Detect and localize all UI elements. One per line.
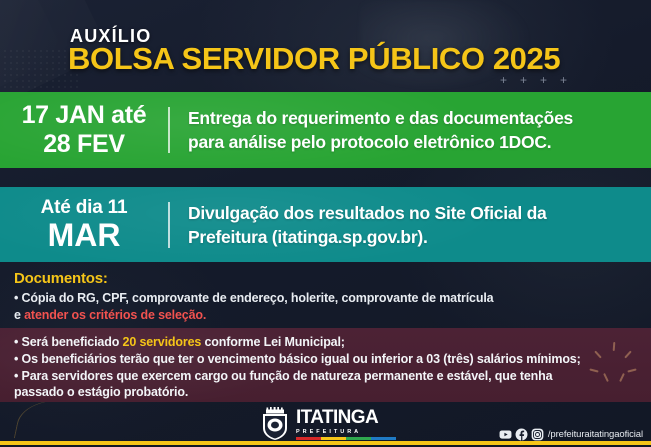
condition-bullet-3-continued: passado o estágio probatório. — [14, 384, 637, 401]
poster-header: AUXÍLIO BOLSA SERVIDOR PÚBLICO 2025 + + … — [0, 0, 651, 92]
condition-bullet-3: • Para servidores que exercem cargo ou f… — [14, 368, 637, 385]
poster-root: AUXÍLIO BOLSA SERVIDOR PÚBLICO 2025 + + … — [0, 0, 651, 447]
plus-marks-decoration: + + + + — [500, 74, 567, 86]
band-divulgacao-date-line1: Até dia 11 — [0, 197, 168, 219]
logo-subtitle: PREFEITURA — [296, 428, 396, 436]
band-entrega: 17 JAN até 28 FEV Entrega do requeriment… — [0, 92, 651, 168]
spark-decoration — [593, 342, 637, 384]
band-divulgacao: Até dia 11 MAR Divulgação dos resultados… — [0, 187, 651, 262]
band-divulgacao-date: Até dia 11 MAR — [0, 197, 168, 252]
youtube-icon[interactable] — [499, 428, 512, 441]
documents-title: Documentos: — [14, 270, 634, 287]
band-entrega-date: 17 JAN até 28 FEV — [0, 101, 168, 159]
logo-bar-yellow — [321, 437, 346, 440]
band-entrega-text-line1: Entrega do requerimento e das documentaç… — [188, 106, 573, 130]
band-entrega-text: Entrega do requerimento e das documentaç… — [170, 106, 573, 154]
documents-line-2-prefix: e — [14, 308, 24, 322]
logo-bar-blue — [371, 437, 396, 440]
social-links[interactable]: /prefeituraitatingaoficial — [499, 428, 643, 441]
condition-bullet-1: • Será beneficiado 20 servidores conform… — [14, 334, 637, 351]
condition-1-prefix: • Será beneficiado — [14, 335, 123, 349]
condition-bullet-2: • Os beneficiários terão que ter o venci… — [14, 351, 637, 368]
logo-color-bar — [296, 437, 396, 440]
condition-1-highlight: 20 servidores — [123, 335, 202, 349]
logo-bar-green — [346, 437, 371, 440]
documents-line-2: e atender os critérios de seleção. — [14, 307, 634, 324]
plus-mark-icon: + — [560, 74, 567, 86]
logo-name: ITATINGA — [296, 408, 396, 427]
band-entrega-text-line2: para análise pelo protocolo eletrônico 1… — [188, 130, 573, 154]
logo-text-block: ITATINGA PREFEITURA — [296, 408, 396, 440]
documents-line-1: • Cópia do RG, CPF, comprovante de ender… — [14, 290, 634, 307]
page-title: BOLSA SERVIDOR PÚBLICO 2025 — [68, 41, 560, 77]
conditions-band: • Será beneficiado 20 servidores conform… — [0, 328, 651, 402]
facebook-icon[interactable] — [515, 428, 528, 441]
logo-bar-red — [296, 437, 321, 440]
plus-mark-icon: + — [540, 74, 547, 86]
band-entrega-date-line1: 17 JAN até — [0, 101, 168, 130]
documents-line-2-highlight: atender os critérios de seleção. — [24, 308, 206, 322]
band-divulgacao-text-line2: Prefeitura (itatinga.sp.gov.br). — [188, 225, 547, 249]
plus-mark-icon: + — [500, 74, 507, 86]
band-divulgacao-text-line1: Divulgação dos resultados no Site Oficia… — [188, 201, 547, 225]
band-divulgacao-date-line2: MAR — [0, 219, 168, 252]
coat-of-arms-icon — [260, 407, 290, 441]
social-handle: /prefeituraitatingaoficial — [548, 429, 643, 440]
instagram-icon[interactable] — [531, 428, 544, 441]
prefeitura-logo: ITATINGA PREFEITURA — [260, 407, 396, 441]
band-entrega-date-line2: 28 FEV — [0, 130, 168, 159]
plus-mark-icon: + — [520, 74, 527, 86]
condition-1-suffix: conforme Lei Municipal; — [201, 335, 345, 349]
documents-section: Documentos: • Cópia do RG, CPF, comprova… — [14, 270, 634, 323]
band-divulgacao-text: Divulgação dos resultados no Site Oficia… — [170, 201, 547, 249]
